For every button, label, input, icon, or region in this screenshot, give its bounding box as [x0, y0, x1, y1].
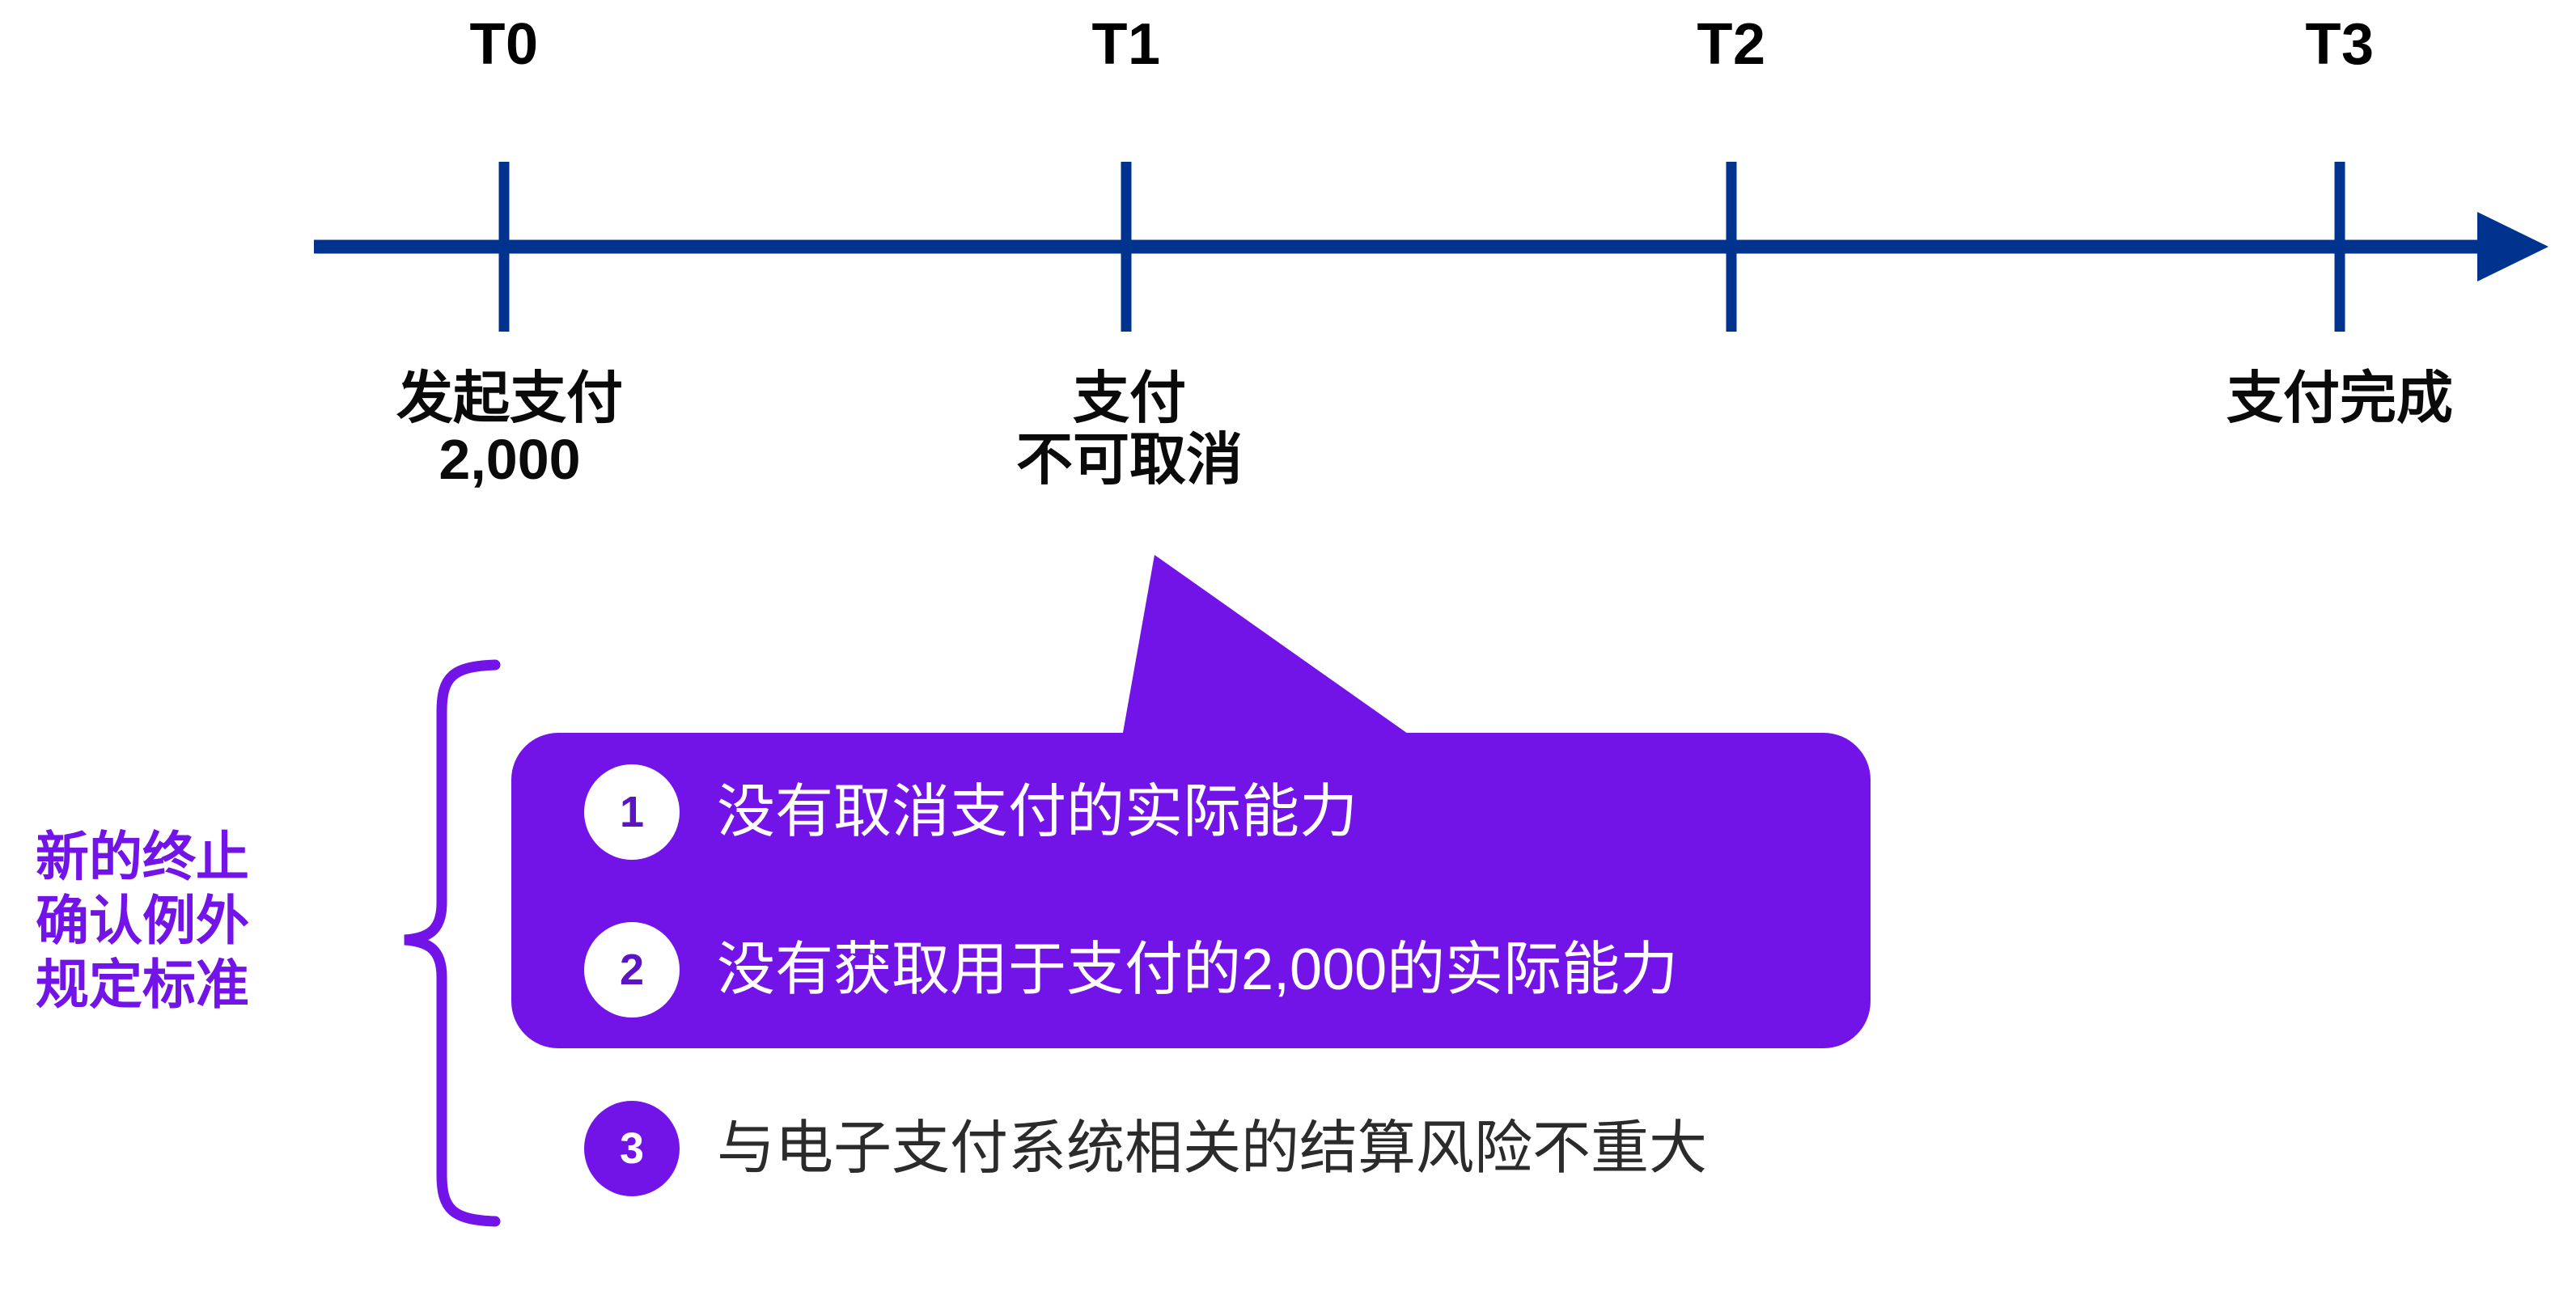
criteria-badge-2: 2 — [584, 922, 680, 1018]
criteria-text-2: 没有获取用于支付的2,000的实际能力 — [717, 941, 1678, 999]
tick-label-t1: T1 — [1091, 11, 1160, 78]
event-label-t0: 发起支付 2,000 — [396, 368, 623, 490]
timeline-arrowhead-icon — [2477, 212, 2548, 281]
criteria-badge-3: 3 — [584, 1101, 680, 1196]
event-label-t3: 支付完成 — [2226, 368, 2453, 429]
criteria-item-1: 1 没有取消支付的实际能力 — [511, 733, 1871, 891]
criteria-item-3: 3 与电子支付系统相关的结算风险不重大 — [511, 1076, 1707, 1221]
criteria-badge-1: 1 — [584, 764, 680, 860]
criteria-callout-box: 1 没有取消支付的实际能力 2 没有获取用于支付的2,000的实际能力 — [511, 733, 1871, 1048]
criteria-caption: 新的终止 确认例外 规定标准 — [36, 825, 359, 1018]
diagram-canvas: T0 T1 T2 T3 发起支付 2,000 支付 不可取消 支付完成 新的终止… — [0, 0, 2576, 1299]
tick-label-t3: T3 — [2305, 11, 2374, 78]
tick-label-t2: T2 — [1697, 11, 1765, 78]
criteria-item-2: 2 没有获取用于支付的2,000的实际能力 — [511, 891, 1871, 1048]
criteria-text-3: 与电子支付系统相关的结算风险不重大 — [717, 1119, 1707, 1178]
criteria-brace — [405, 665, 495, 1221]
tick-label-t0: T0 — [469, 11, 538, 78]
criteria-text-1: 没有取消支付的实际能力 — [717, 783, 1358, 841]
event-label-t1: 支付 不可取消 — [1016, 368, 1243, 490]
